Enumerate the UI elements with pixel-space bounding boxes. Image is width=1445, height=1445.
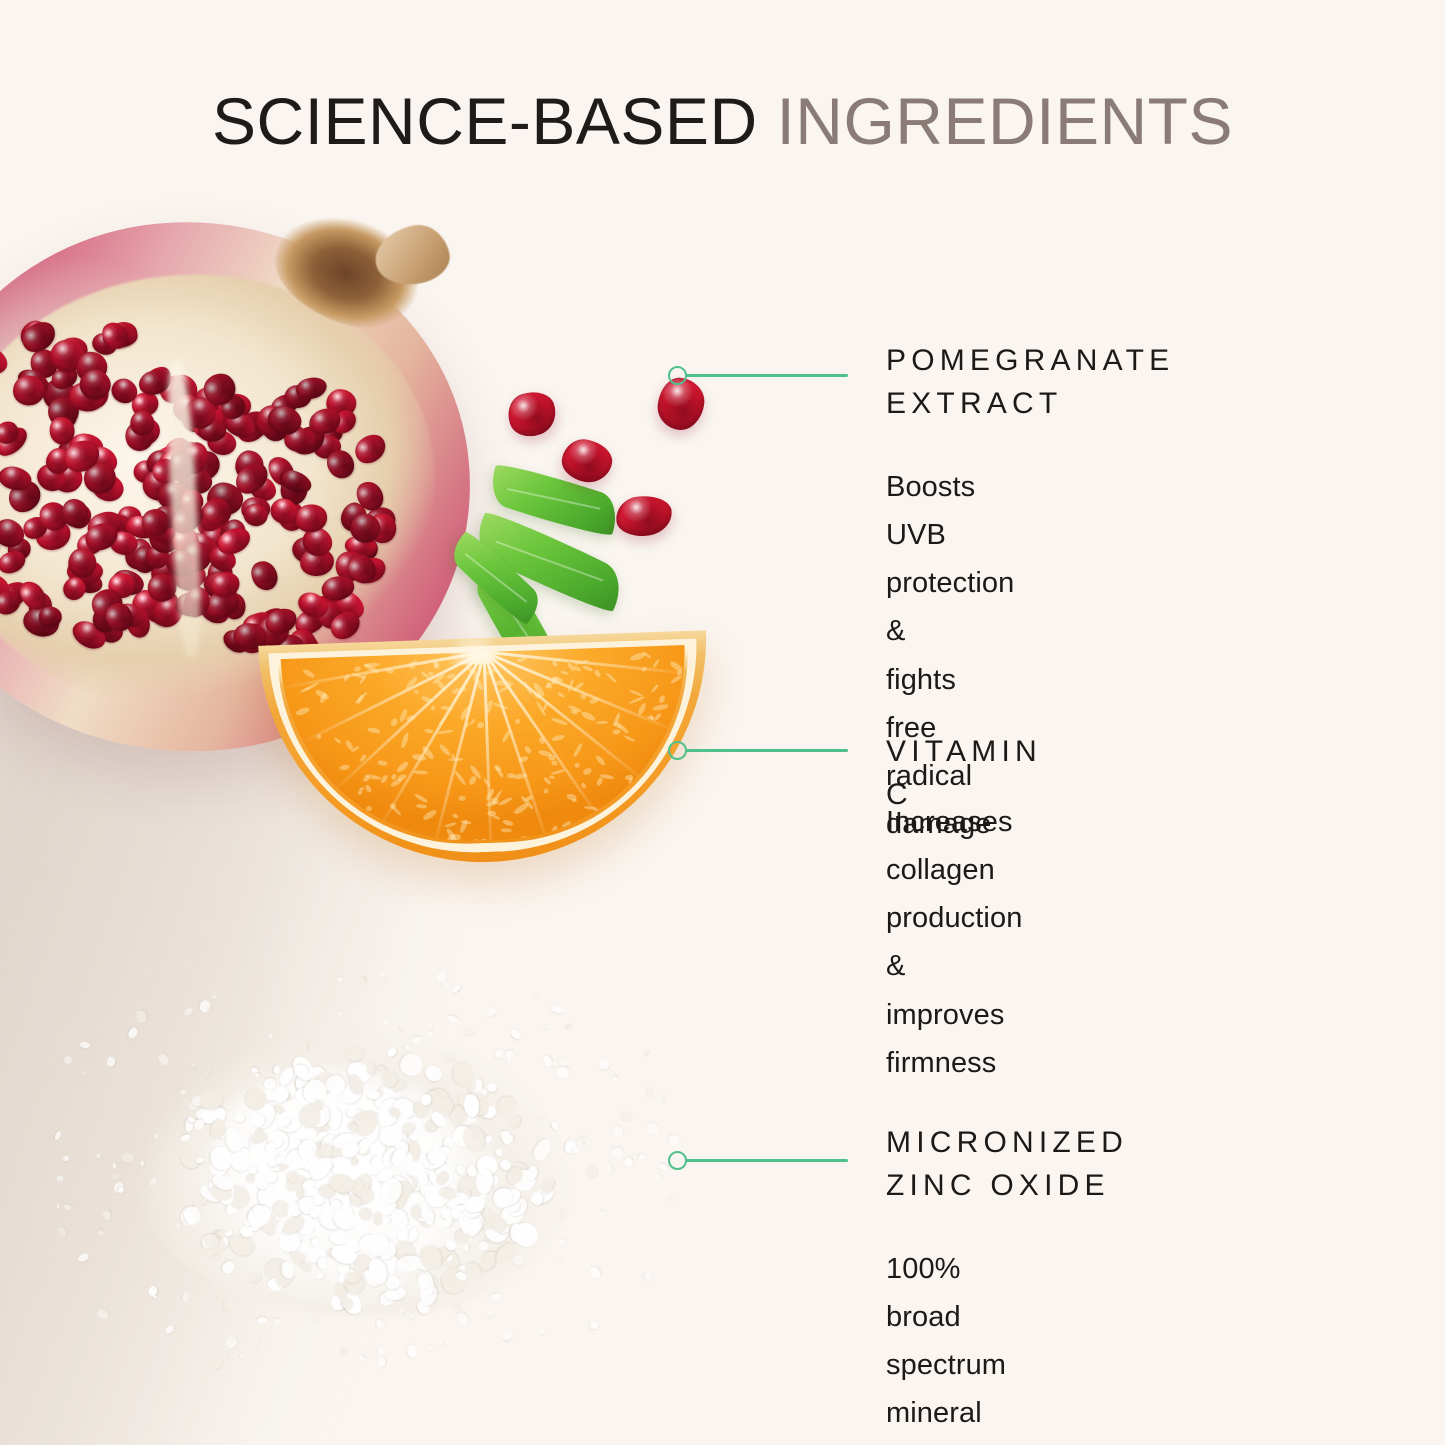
powder-grain (300, 1076, 330, 1106)
powder-grain (327, 1171, 355, 1194)
orange-pulp-vesicle (502, 819, 514, 827)
powder-grain (96, 1230, 104, 1236)
powder-grain (606, 1164, 611, 1173)
powder-grain (289, 1239, 310, 1262)
powder-grain (295, 1186, 305, 1199)
powder-grain (421, 1148, 449, 1173)
powder-grain (274, 1000, 279, 1005)
powder-grain (388, 1077, 408, 1093)
powder-grain (495, 1050, 504, 1059)
powder-grain (292, 1062, 310, 1079)
powder-grain (328, 1292, 350, 1314)
orange-pulp-vesicle (597, 721, 609, 725)
powder-grain (419, 1153, 430, 1169)
powder-grain (424, 1209, 434, 1224)
powder-grain (444, 1239, 458, 1252)
powder-grain (366, 1257, 389, 1286)
powder-grain (363, 1183, 370, 1191)
powder-grain (504, 1164, 525, 1187)
powder-grain (661, 1096, 664, 1100)
powder-grain (446, 1254, 454, 1263)
powder-grain (349, 1067, 356, 1075)
powder-grain (195, 1157, 204, 1163)
orange-pulp-vesicle (414, 689, 420, 694)
powder-grain (279, 1260, 296, 1280)
powder-grain (489, 1292, 501, 1301)
orange-pulp-vesicle (548, 754, 556, 760)
powder-grain (434, 969, 449, 984)
orange-pulp-vesicle (637, 702, 647, 716)
powder-grain (655, 1173, 661, 1180)
pomegranate-seed (502, 386, 561, 443)
powder-grain (577, 1137, 590, 1148)
powder-grain (358, 975, 368, 985)
powder-grain (408, 1227, 417, 1240)
callout-leader-line (686, 749, 848, 752)
powder-grain (433, 1244, 464, 1274)
powder-grain (511, 1254, 526, 1268)
powder-grain (484, 1134, 493, 1143)
callout-body: Increases collagen production & improves… (886, 798, 1022, 1087)
powder-grain (451, 1204, 474, 1220)
powder-grain (510, 1223, 522, 1243)
powder-grain (509, 1159, 536, 1187)
powder-grain (466, 1197, 478, 1209)
powder-grain (451, 1193, 468, 1205)
powder-grain (391, 1252, 408, 1266)
powder-grain (440, 1208, 458, 1223)
powder-grain (141, 1161, 145, 1166)
powder-grain (429, 1110, 449, 1130)
powder-grain (238, 1223, 255, 1239)
powder-grain (260, 1088, 279, 1102)
powder-grain (498, 1130, 509, 1140)
powder-grain (538, 1328, 545, 1334)
orange-pulp-vesicle (333, 737, 342, 745)
powder-grain (356, 1108, 364, 1116)
powder-grain (376, 1346, 385, 1357)
powder-grain (255, 1211, 277, 1229)
powder-grain (405, 1343, 419, 1358)
orange-pulp-vesicle (551, 760, 557, 765)
powder-grain (212, 1234, 230, 1252)
powder-grain (347, 1170, 374, 1200)
powder-grain (198, 1181, 226, 1204)
powder-grain (327, 1230, 347, 1248)
orange-pulp-vesicle (629, 688, 643, 696)
powder-grain (551, 1121, 559, 1131)
powder-grain (244, 1213, 265, 1234)
powder-grain (373, 1085, 397, 1113)
powder-grain (284, 1201, 311, 1227)
powder-grain (211, 1253, 221, 1262)
powder-grain (365, 1230, 393, 1260)
powder-grain (210, 1229, 223, 1242)
powder-grain (247, 1208, 260, 1220)
powder-grain (550, 1004, 564, 1015)
orange-pulp-vesicle (437, 730, 454, 735)
powder-grain (489, 1184, 517, 1212)
orange-pulp-vesicle (658, 695, 666, 704)
powder-grain (305, 1102, 331, 1128)
powder-grain (184, 1116, 195, 1132)
powder-grain (666, 1197, 672, 1202)
powder-grain (106, 1056, 116, 1068)
orange-pulp-vesicle (582, 664, 593, 671)
powder-grain (622, 1156, 634, 1168)
powder-grain (298, 1262, 312, 1274)
powder-grain (245, 1173, 255, 1184)
powder-grain (375, 1318, 386, 1328)
powder-grain (495, 1095, 518, 1117)
powder-grain (391, 1238, 417, 1267)
orange-pulp-vesicle (501, 828, 512, 832)
powder-grain (355, 1137, 373, 1156)
powder-grain (539, 1175, 557, 1195)
callout-leader-line (686, 374, 848, 377)
powder-grain (312, 1160, 320, 1168)
powder-grain (545, 1025, 549, 1029)
page-title: SCIENCE-BASED INGREDIENTS (0, 88, 1445, 154)
powder-grain (357, 1139, 372, 1157)
powder-grain (565, 1141, 576, 1154)
powder-grain (619, 1110, 633, 1123)
powder-grain (250, 1131, 268, 1145)
powder-grain (473, 1090, 482, 1103)
powder-grain (424, 1119, 437, 1133)
powder-grain (374, 1212, 382, 1226)
powder-grain (81, 1070, 86, 1075)
powder-grain (450, 1303, 461, 1315)
powder-grain (463, 1194, 488, 1215)
powder-grain (362, 1267, 384, 1290)
powder-grain (500, 1130, 512, 1146)
powder-grain (211, 1172, 236, 1192)
powder-grain (560, 1256, 564, 1260)
orange-pulp-vesicle (422, 808, 438, 821)
powder-grain (384, 1178, 416, 1207)
powder-grain (378, 1253, 398, 1272)
powder-grain (282, 1228, 291, 1237)
powder-grain (624, 1157, 631, 1166)
powder-grain (372, 1253, 398, 1279)
orange-pulp-vesicle (574, 762, 580, 768)
powder-grain (364, 1112, 383, 1131)
powder-grain (292, 1070, 322, 1100)
powder-grain (258, 1211, 265, 1217)
powder-grain (377, 1288, 399, 1308)
powder-grain (337, 1262, 350, 1275)
orange-pulp-vesicle (476, 721, 485, 729)
orange-pulp-vesicle (595, 776, 604, 786)
powder-grain (466, 1165, 478, 1178)
powder-grain (550, 1061, 558, 1068)
powder-grain (454, 1170, 485, 1200)
powder-grain (266, 1277, 284, 1293)
powder-grain (459, 1188, 482, 1211)
powder-grain (486, 1082, 497, 1093)
powder-grain (244, 1201, 275, 1231)
powder-grain (505, 1196, 530, 1220)
powder-grain (280, 1212, 307, 1238)
powder-grain (300, 1135, 316, 1151)
powder-grain (358, 1354, 366, 1362)
powder-grain (483, 1252, 501, 1265)
powder-grain (581, 1139, 587, 1146)
powder-grain (264, 1141, 277, 1155)
powder-grain (260, 1214, 277, 1234)
powder-grain (292, 1084, 317, 1108)
orange-pulp-vesicle (400, 732, 410, 749)
powder-grain (367, 1091, 380, 1100)
powder-grain (391, 1096, 417, 1120)
powder-grain (462, 1260, 483, 1281)
powder-grain (298, 1098, 321, 1120)
powder-grain (336, 1265, 363, 1292)
orange-pulp-vesicle (366, 727, 379, 735)
powder-grain (276, 1228, 303, 1255)
powder-grain (177, 1203, 204, 1230)
orange-pulp-vesicle (571, 799, 576, 802)
orange-pulp-vesicle (364, 784, 373, 794)
powder-grain (329, 1186, 352, 1213)
orange-pulp-vesicle (408, 665, 414, 669)
powder-grain (451, 1060, 477, 1089)
powder-grain (297, 1199, 313, 1217)
powder-highlight (210, 1066, 460, 1236)
powder-grain (397, 1174, 420, 1193)
powder-grain (189, 1201, 194, 1208)
powder-grain (479, 1255, 498, 1274)
powder-grain (306, 1104, 337, 1136)
powder-grain (444, 1189, 459, 1208)
powder-grain (487, 1212, 510, 1234)
powder-grain (417, 1261, 429, 1271)
powder-grain (265, 1152, 282, 1168)
powder-grain (498, 1158, 513, 1173)
powder-grain (507, 1135, 514, 1143)
powder-grain (487, 1311, 492, 1316)
powder-grain (660, 1094, 664, 1100)
powder-grain (455, 1164, 467, 1176)
powder-grain (380, 1144, 405, 1170)
orange-pulp-vesicle (550, 769, 565, 776)
powder-grain (336, 1010, 343, 1017)
powder-grain (223, 1335, 238, 1351)
powder-grain (494, 1148, 505, 1159)
powder-grain (308, 1043, 316, 1051)
powder-grain (293, 1167, 315, 1186)
powder-grain (411, 1097, 433, 1120)
orange-pulp-vesicle (624, 735, 636, 743)
powder-grain (410, 1205, 420, 1220)
powder-grain (508, 1114, 522, 1128)
orange-pulp-vesicle (594, 754, 606, 766)
powder-grain (334, 1183, 350, 1198)
powder-grain (507, 1200, 520, 1214)
powder-grain (342, 1347, 348, 1355)
powder-grain (362, 1268, 379, 1282)
callout-heading: MICRONIZED ZINC OXIDE (886, 1122, 1128, 1207)
powder-grain (328, 1107, 342, 1129)
orange-pulp-vesicle (406, 714, 417, 722)
powder-grain (416, 1273, 429, 1284)
powder-grain (220, 1259, 237, 1276)
powder-grain (347, 1176, 367, 1196)
powder-grain (428, 1276, 437, 1289)
powder-grain (420, 1093, 432, 1106)
powder-grain (325, 1248, 338, 1260)
powder-grain (386, 1187, 409, 1210)
powder-grain (264, 1170, 279, 1184)
powder-grain (291, 1251, 305, 1266)
powder-grain (438, 1187, 457, 1201)
powder-grain (543, 1054, 554, 1067)
powder-grain (451, 1125, 474, 1148)
powder-grain (533, 1192, 543, 1205)
powder-grain (118, 1187, 125, 1195)
powder-grain (120, 1152, 135, 1165)
powder-grain (443, 1136, 452, 1150)
orange-pulp-vesicle (430, 704, 436, 710)
powder-grain (565, 1025, 572, 1031)
powder-grain (164, 1324, 176, 1335)
powder-grain (216, 1178, 236, 1205)
pomegranate-seed (558, 435, 616, 486)
powder-grain (426, 1150, 438, 1165)
powder-grain (384, 1123, 412, 1152)
powder-grain (348, 1286, 361, 1300)
powder-grain (337, 977, 343, 983)
callout-body: 100% broad spectrum mineral protection (886, 1245, 1014, 1445)
orange-pulp-vesicle (670, 674, 683, 684)
powder-grain (358, 1108, 381, 1131)
powder-grain (446, 1102, 471, 1127)
powder-grain (195, 1107, 220, 1126)
powder-grain (347, 1072, 366, 1096)
powder-grain (266, 1136, 274, 1145)
powder-grain (383, 1019, 388, 1024)
powder-grain (399, 1308, 405, 1315)
powder-grain (528, 1185, 555, 1207)
powder-grain (329, 1205, 359, 1234)
powder-grain (457, 1188, 468, 1200)
powder-grain (404, 1044, 410, 1050)
powder-grain (63, 1054, 74, 1065)
orange-pulp-vesicle (498, 796, 514, 807)
powder-grain (492, 1240, 519, 1268)
orange-pulp-vesicle (379, 775, 388, 785)
powder-grain (477, 1173, 495, 1189)
powder-grain (345, 1120, 359, 1133)
powder-grain (389, 1173, 413, 1198)
powder-grain (435, 1168, 441, 1174)
powder-grain (403, 1114, 426, 1138)
powder-grain (263, 1218, 278, 1236)
powder-grain (316, 1207, 345, 1233)
powder-grain (277, 1066, 295, 1088)
powder-grain (56, 1205, 59, 1210)
powder-grain (274, 1065, 280, 1073)
powder-grain (156, 1052, 171, 1067)
powder-grain (345, 1108, 356, 1119)
powder-grain (63, 1156, 69, 1162)
powder-grain (341, 1271, 367, 1298)
powder-grain (289, 1053, 316, 1084)
orange-pulp-vesicle (652, 703, 668, 711)
orange-pulp-vesicle (549, 775, 556, 779)
powder-grain (329, 1198, 343, 1212)
powder-grain (178, 1148, 203, 1172)
orange-pulp-vesicle (413, 770, 427, 775)
powder-grain (485, 1006, 498, 1017)
powder-grain (406, 1141, 422, 1163)
powder-grain (199, 1232, 217, 1251)
powder-grain (611, 1147, 624, 1159)
powder-grain (375, 1095, 408, 1128)
powder-grain (249, 1133, 259, 1148)
powder-grain (463, 1244, 469, 1252)
powder-grain (277, 1221, 283, 1228)
orange-flesh (281, 645, 691, 847)
orange-pulp-vesicle (416, 804, 427, 809)
powder-grain (356, 1232, 378, 1254)
orange-pulp-vesicle (365, 806, 373, 813)
powder-grain (317, 1129, 329, 1141)
powder-grain (374, 1320, 381, 1330)
powder-grain (135, 1010, 148, 1025)
powder-grain (412, 1037, 423, 1044)
powder-grain (385, 1286, 408, 1301)
powder-grain (311, 1193, 326, 1208)
powder-grain (386, 1146, 417, 1177)
powder-grain (509, 1027, 522, 1040)
orange-pulp-vesicle (544, 788, 550, 795)
powder-grain (190, 1062, 198, 1069)
powder-grain (377, 1180, 402, 1205)
powder-grain (277, 1074, 304, 1100)
powder-grain (226, 1148, 253, 1175)
powder-grain (376, 1191, 400, 1217)
title-part-taupe: INGREDIENTS (758, 84, 1233, 158)
powder-grain (611, 1125, 625, 1139)
powder-grain (456, 1186, 474, 1206)
powder-grain (344, 1043, 366, 1064)
powder-grain (505, 1051, 513, 1058)
powder-grain (318, 1133, 343, 1159)
powder-grain (258, 1185, 275, 1207)
powder-grain (450, 1263, 471, 1288)
zinc-powder-image (60, 980, 660, 1400)
powder-grain (588, 1265, 602, 1280)
powder-grain (201, 1231, 221, 1251)
powder-grain (249, 1111, 267, 1130)
powder-grain (647, 1122, 660, 1134)
powder-grain (447, 1015, 459, 1023)
powder-grain (361, 1269, 373, 1281)
powder-grain (638, 1153, 645, 1160)
powder-grain (314, 1168, 336, 1193)
powder-grain (112, 1180, 125, 1194)
powder-grain (378, 1358, 386, 1369)
orange-pulp-vesicle (580, 710, 596, 722)
powder-grain (188, 1102, 199, 1111)
powder-grain (77, 1251, 90, 1262)
callout-dot-icon (668, 366, 687, 385)
powder-grain (438, 1341, 443, 1346)
powder-grain (471, 1088, 486, 1099)
powder-grain (294, 1213, 316, 1236)
